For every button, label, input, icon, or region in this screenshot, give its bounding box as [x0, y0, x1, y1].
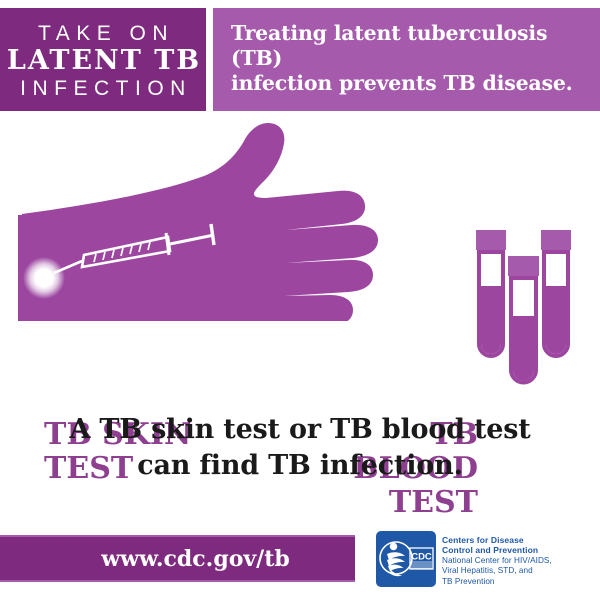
cdc-agency-line-2: Viral Hepatitis, STD, and	[442, 566, 552, 576]
arm-hand-silhouette	[18, 123, 378, 321]
tube-cap-middle	[508, 256, 539, 276]
blood-tube-left	[476, 230, 506, 356]
website-url-text[interactable]: www.cdc.gov/tb	[65, 546, 290, 572]
blood-tube-middle	[508, 256, 539, 382]
cdc-agency-bold-line-1: Centers for Disease	[442, 535, 552, 545]
logo-line-take-on: TAKE ON	[32, 21, 174, 46]
tube-cap-left	[476, 230, 506, 250]
injection-site-core-icon	[38, 272, 51, 285]
tagline-panel: Treating latent tuberculosis (TB) infect…	[213, 8, 600, 111]
website-url-bar[interactable]: www.cdc.gov/tb	[0, 535, 355, 582]
cdc-agency-bold-line-2: Control and Prevention	[442, 545, 552, 555]
logo-line-latent-tb: LATENT TB	[5, 46, 201, 76]
hhs-cdc-logo-icon: CDC	[376, 531, 436, 587]
logo-line-infection: INFECTION	[14, 76, 192, 101]
main-message-line-2: can find TB infection.	[0, 448, 600, 484]
cdc-agency-line-1: National Center for HIV/AIDS,	[442, 556, 552, 566]
tagline-text: Treating latent tuberculosis (TB) infect…	[231, 21, 586, 96]
tagline-line-1: Treating latent tuberculosis (TB)	[231, 21, 547, 70]
campaign-logo-block: TAKE ON LATENT TB INFECTION	[0, 8, 206, 111]
tagline-line-2: infection prevents TB disease.	[231, 71, 573, 95]
header-banner: TAKE ON LATENT TB INFECTION Treating lat…	[0, 8, 600, 111]
tube-blood-middle	[513, 316, 534, 381]
blood-tube-right	[541, 230, 571, 356]
poster-canvas: TAKE ON LATENT TB INFECTION Treating lat…	[0, 0, 600, 600]
main-message: A TB skin test or TB blood test can find…	[0, 412, 600, 484]
caption-blood-line-2: TEST	[300, 486, 478, 520]
footer: www.cdc.gov/tb CDC	[0, 535, 600, 583]
cdc-agency-text: Centers for Disease Control and Preventi…	[442, 531, 552, 587]
cdc-agency-line-3: TB Prevention	[442, 577, 552, 587]
cdc-logo-block: CDC Centers for Disease Control and Prev…	[376, 531, 552, 587]
blood-collection-tubes-icon	[470, 226, 580, 386]
tube-cap-right	[541, 230, 571, 250]
header-divider	[206, 8, 213, 111]
cdc-mark-text: CDC	[411, 552, 432, 563]
tube-blood-left	[481, 286, 501, 354]
main-message-line-1: A TB skin test or TB blood test	[0, 412, 600, 448]
hand-with-syringe-icon	[18, 121, 438, 321]
tube-blood-right	[546, 286, 566, 354]
illustration-area: TB SKIN TEST TB BLOOD TEST	[0, 111, 600, 396]
